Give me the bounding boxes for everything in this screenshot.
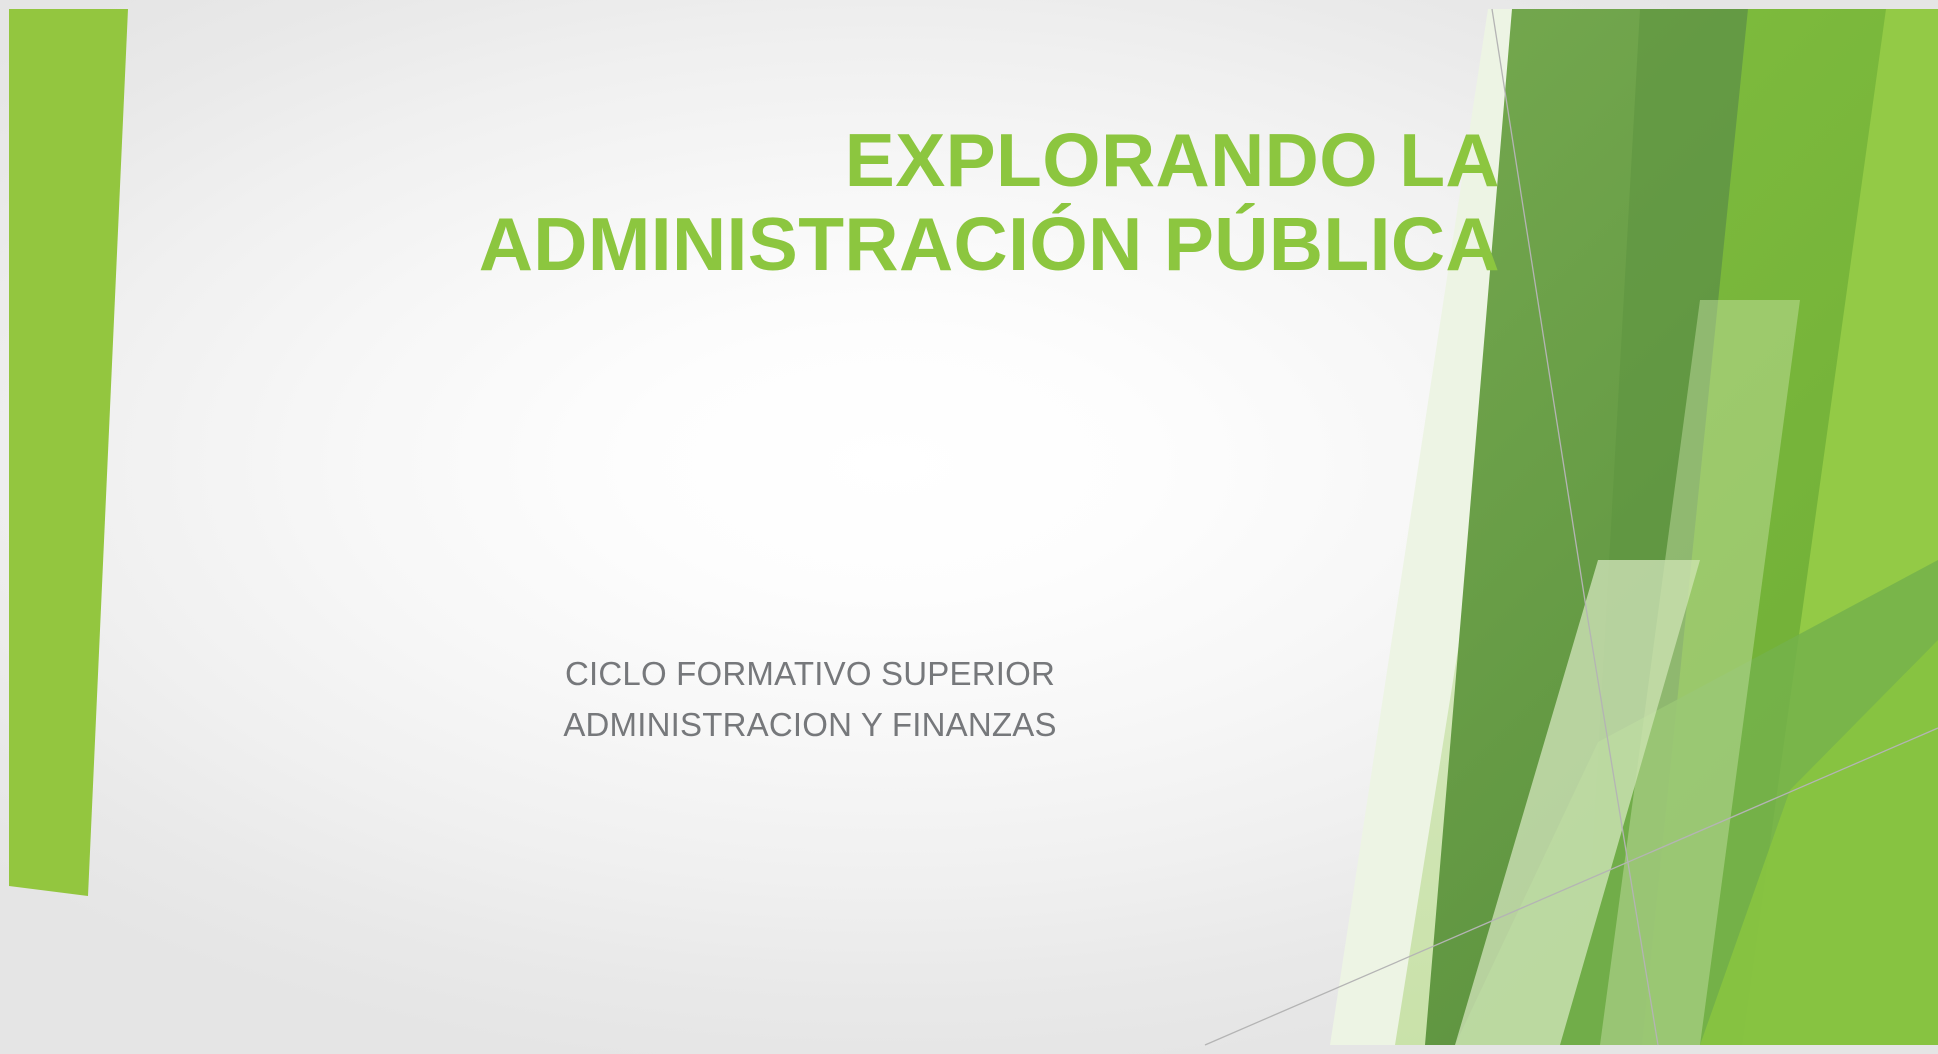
subtitle-line-1: CICLO FORMATIVO SUPERIOR: [420, 648, 1200, 699]
slide-canvas: EXPLORANDO LA ADMINISTRACIÓN PÚBLICA CIC…: [0, 0, 1938, 1054]
subtitle-line-2: ADMINISTRACION Y FINANZAS: [420, 699, 1200, 750]
slide-root: EXPLORANDO LA ADMINISTRACIÓN PÚBLICA CIC…: [0, 0, 1938, 1054]
title-line-1: EXPLORANDO LA: [180, 118, 1500, 202]
slide-subtitle: CICLO FORMATIVO SUPERIOR ADMINISTRACION …: [420, 648, 1200, 750]
title-line-2: ADMINISTRACIÓN PÚBLICA: [180, 202, 1500, 286]
slide-title: EXPLORANDO LA ADMINISTRACIÓN PÚBLICA: [180, 118, 1500, 286]
